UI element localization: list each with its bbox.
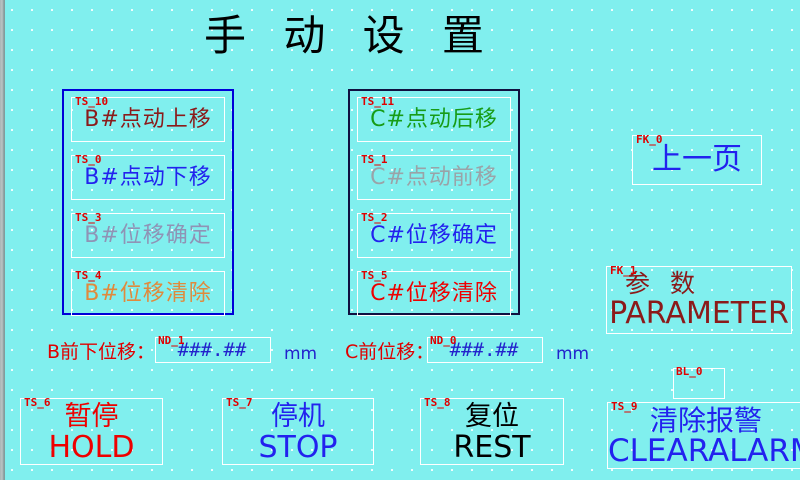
tag-ts3: TS_3 <box>75 212 102 224</box>
tag-ts10: TS_10 <box>75 96 108 108</box>
button-label: C#点动前移 <box>358 165 510 191</box>
tag-bl0: BL_0 <box>676 366 703 378</box>
button-ts0-b-jog-down[interactable]: TS_0 B#点动下移 <box>71 155 225 200</box>
tag-ts1: TS_1 <box>361 154 388 166</box>
button-ts3-b-offset-confirm[interactable]: TS_3 B#位移确定 <box>71 213 225 258</box>
button-label-line2: STOP <box>223 431 373 465</box>
button-label-line2: PARAMETER <box>607 297 791 331</box>
numeric-field-nd1[interactable]: ND_1 ###.## <box>155 337 271 363</box>
button-label: B#点动上移 <box>72 107 224 133</box>
tag-ts0: TS_0 <box>75 154 102 166</box>
button-label: C#位移清除 <box>358 281 510 307</box>
button-label-line2: CLEARALARM <box>608 434 800 469</box>
button-label: C#位移确定 <box>358 223 510 249</box>
tag-fk1: FK_1 <box>610 265 637 277</box>
tag-ts9: TS_9 <box>611 401 638 413</box>
field-label-b-front-down-offset: B前下位移： <box>47 341 155 363</box>
tag-ts6: TS_6 <box>24 397 51 409</box>
button-label: 上一页 <box>633 143 761 177</box>
button-label: B#位移清除 <box>72 281 224 307</box>
button-label-line2: HOLD <box>21 431 162 465</box>
left-edge-gutter <box>0 0 5 480</box>
numeric-field-nd0[interactable]: ND_0 ###.## <box>427 337 543 363</box>
button-label-line2: REST <box>421 431 563 465</box>
button-label: C#点动后移 <box>358 107 510 133</box>
unit-label-mm-c: mm <box>556 344 589 364</box>
page-title: 手 动 设 置 <box>200 12 500 60</box>
tag-nd1: ND_1 <box>158 335 185 347</box>
indicator-lamp-bl0: BL_0 <box>673 368 725 399</box>
button-ts10-b-jog-up[interactable]: TS_10 B#点动上移 <box>71 97 225 142</box>
button-fk0-previous-page[interactable]: FK_0 上一页 <box>632 135 762 185</box>
button-label: B#点动下移 <box>72 165 224 191</box>
button-ts7-stop[interactable]: TS_7 停机 STOP <box>222 398 374 465</box>
tag-ts8: TS_8 <box>424 397 451 409</box>
tag-ts11: TS_11 <box>361 96 394 108</box>
button-ts11-c-jog-back[interactable]: TS_11 C#点动后移 <box>357 97 511 142</box>
button-ts9-clear-alarm[interactable]: TS_9 清除报警 CLEARALARM <box>607 402 800 469</box>
button-label: B#位移确定 <box>72 223 224 249</box>
hmi-screen-canvas: 手 动 设 置 TS_10 B#点动上移 TS_0 B#点动下移 TS_3 B#… <box>0 0 800 480</box>
tag-ts5: TS_5 <box>361 270 388 282</box>
tag-ts7: TS_7 <box>226 397 253 409</box>
button-ts6-hold[interactable]: TS_6 暂停 HOLD <box>20 398 163 465</box>
button-ts4-b-offset-clear[interactable]: TS_4 B#位移清除 <box>71 271 225 316</box>
button-fk1-parameter[interactable]: FK_1 参 数 PARAMETER <box>606 266 792 334</box>
tag-fk0: FK_0 <box>636 134 663 146</box>
tag-ts2: TS_2 <box>361 212 388 224</box>
tag-nd0: ND_0 <box>430 335 457 347</box>
button-ts1-c-jog-forward[interactable]: TS_1 C#点动前移 <box>357 155 511 200</box>
button-ts8-reset[interactable]: TS_8 复位 REST <box>420 398 564 465</box>
button-ts5-c-offset-clear[interactable]: TS_5 C#位移清除 <box>357 271 511 316</box>
tag-ts4: TS_4 <box>75 270 102 282</box>
field-label-c-front-offset: C前位移： <box>345 341 434 363</box>
button-ts2-c-offset-confirm[interactable]: TS_2 C#位移确定 <box>357 213 511 258</box>
unit-label-mm-b: mm <box>284 344 317 364</box>
button-label-line1: 参 数 <box>625 269 791 299</box>
